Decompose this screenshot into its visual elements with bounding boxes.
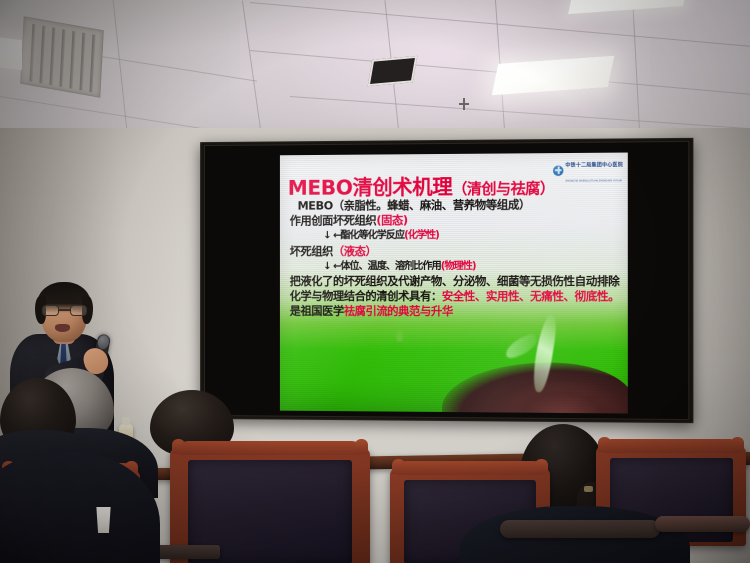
- chair-right-armrest[interactable]: [500, 520, 660, 538]
- slide-line-4-a: 坏死组织: [290, 244, 333, 258]
- slide-line-7-a: 化学与物理结合的清创术具有：: [290, 289, 442, 303]
- slide-line-1: MEBO（亲脂性。蜂蜡、麻油、营养物等组成）: [290, 197, 624, 214]
- slide-line-2-b: (固态): [376, 213, 407, 227]
- slide-line-4-b: （液态）: [333, 244, 376, 258]
- slide-line-5: ↓ ←体位、温度、溶剂比作用(物理性): [290, 259, 624, 275]
- presenter-mouth: [55, 324, 70, 332]
- slide-line-5-b: (物理性): [441, 261, 476, 272]
- slide-line-8: 是祖国医学祛腐引流的典范与升华: [290, 304, 624, 320]
- fire-sprinkler-icon: [459, 98, 469, 110]
- hair-tie: [584, 486, 593, 492]
- slide-line-4: 坏死组织（液态）: [290, 243, 624, 259]
- slide-line-8-b: 祛腐引流的典范与升华: [344, 304, 453, 318]
- ceiling-speaker-grille: [368, 56, 418, 86]
- glasses-icon: [42, 305, 87, 316]
- slide-line-8-a: 是祖国医学: [290, 304, 344, 318]
- slide-title-main: MEBO清创术机理: [288, 175, 453, 200]
- slide-body: MEBO（亲脂性。蜂蜡、麻油、营养物等组成） 作用创面坏死组织(固态) ↓ ←酯…: [290, 197, 624, 320]
- slide-line-6: 把液化了的坏死组织及代谢产物、分泌物、细菌等无损伤性自动排除: [290, 274, 624, 289]
- slide-line-2: 作用创面坏死组织(固态): [290, 212, 624, 228]
- slide-line-5-a: ↓ ←体位、温度、溶剂比作用: [323, 261, 441, 272]
- seed-dot-artwork: [396, 330, 403, 342]
- slide-line-7-b: 安全性、实用性、无痛性、彻底性。: [442, 289, 619, 303]
- slide-title: MEBO清创术机理（清创与祛腐）: [288, 169, 624, 201]
- slide-title-sub: （清创与祛腐）: [452, 179, 554, 198]
- slide-line-2-a: 作用创面坏死组织: [290, 213, 377, 227]
- sprout-leaf-artwork: [502, 333, 540, 361]
- conference-room-photo: 中铁十二局集团中心医院 ZHONGTIE SHIERJU JITUAN ZHON…: [0, 0, 750, 563]
- slide-line-3: ↓ ←酯化等化学反应(化学性): [290, 228, 624, 244]
- chair-far-right-armrest[interactable]: [655, 516, 750, 532]
- slide-line-3-b: (化学性): [404, 230, 439, 241]
- slide-line-3-a: ↓ ←酯化等化学反应: [323, 231, 404, 242]
- projection-screen: 中铁十二局集团中心医院 ZHONGTIE SHIERJU JITUAN ZHON…: [200, 138, 693, 423]
- hospital-logo-name-cn: 中铁十二局集团中心医院: [565, 162, 623, 168]
- slide-line-7: 化学与物理结合的清创术具有：安全性、实用性、无痛性、彻底性。: [290, 289, 624, 305]
- chair-center-armrest[interactable]: [152, 545, 220, 559]
- presentation-slide: 中铁十二局集团中心医院 ZHONGTIE SHIERJU JITUAN ZHON…: [280, 153, 628, 414]
